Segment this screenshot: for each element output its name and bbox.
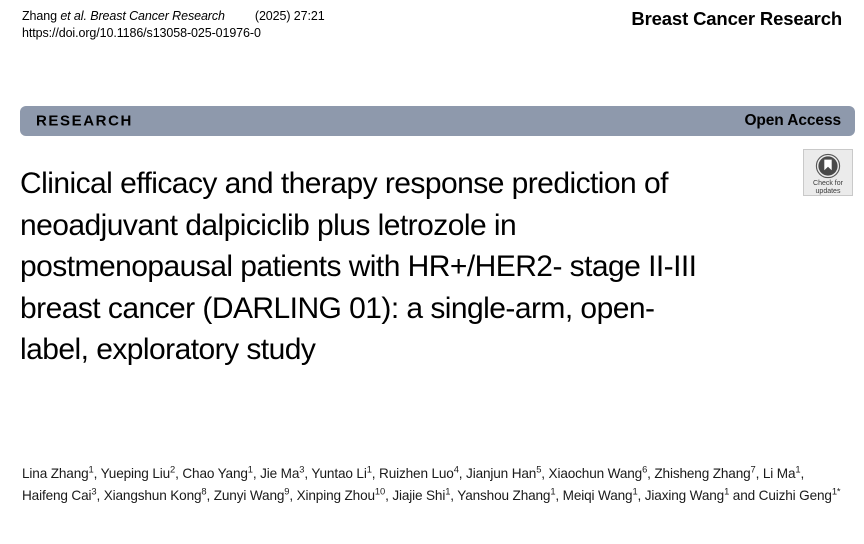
citation-author: Zhang	[22, 9, 60, 23]
running-head: Zhang et al. Breast Cancer Research(2025…	[22, 8, 842, 44]
crossmark-bookmark-icon	[815, 153, 841, 179]
crossmark-label: Check for updates	[813, 180, 843, 196]
journal-title: Breast Cancer Research	[631, 8, 842, 30]
open-access-label: Open Access	[744, 112, 841, 130]
crossmark-badge[interactable]: Check for updates	[803, 149, 853, 196]
doi-link[interactable]: https://doi.org/10.1186/s13058-025-01976…	[22, 25, 261, 42]
citation-journal-italic: et al. Breast Cancer Research	[60, 9, 225, 23]
citation-volume-issue: (2025) 27:21	[255, 8, 325, 25]
author-list: Lina Zhang1, Yueping Liu2, Chao Yang1, J…	[22, 463, 850, 506]
citation-line: Zhang et al. Breast Cancer Research(2025…	[22, 8, 325, 25]
article-type-bar: RESEARCH Open Access	[20, 106, 855, 136]
article-type-label: RESEARCH	[36, 113, 133, 130]
article-first-page: Zhang et al. Breast Cancer Research(2025…	[0, 0, 864, 544]
page-title: Clinical efficacy and therapy response p…	[20, 163, 720, 371]
